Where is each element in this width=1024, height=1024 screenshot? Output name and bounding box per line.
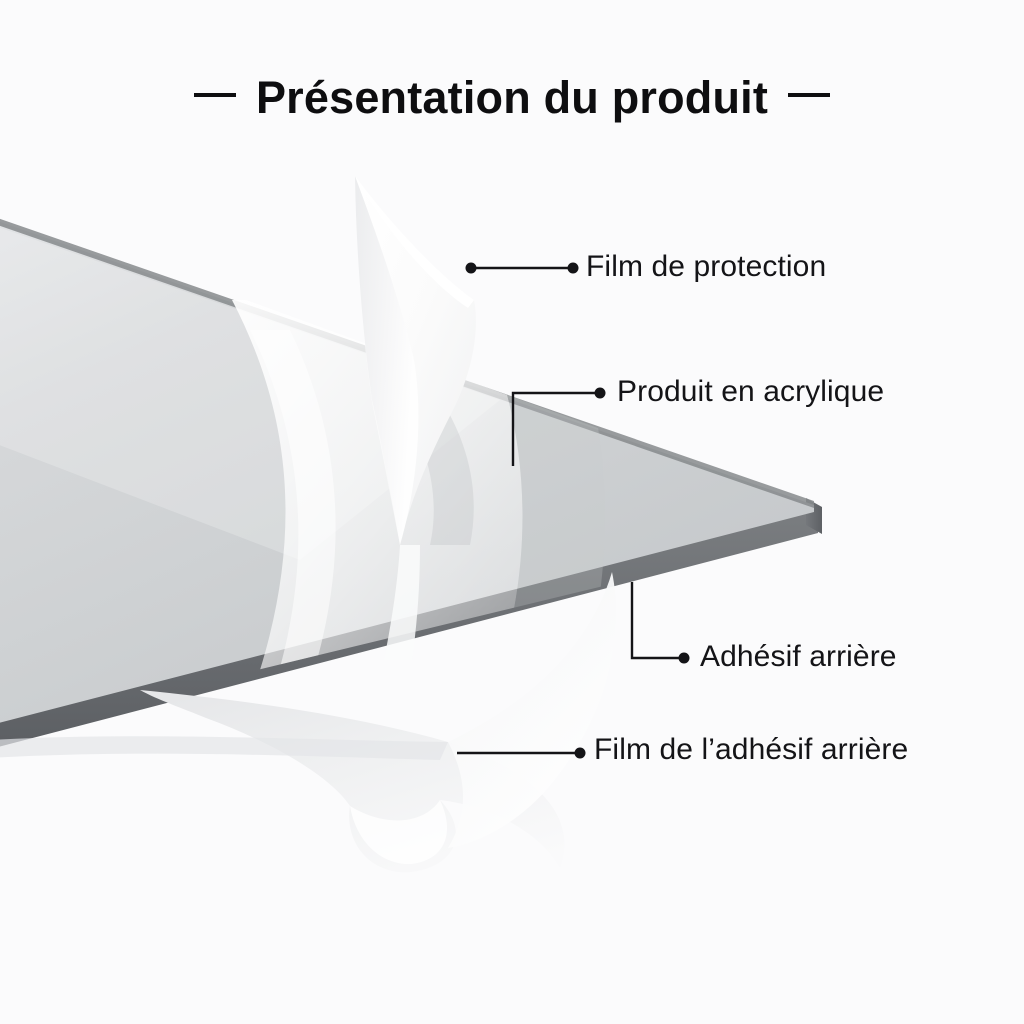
leader-dot-produit-acrylique — [595, 388, 606, 399]
callout-label-adhesif-arriere: Adhésif arrière — [700, 640, 897, 674]
callout-label-film-adhesif-arriere: Film de l’adhésif arrière — [594, 733, 908, 767]
leader-dot-film-adhesif-arriere — [575, 748, 586, 759]
leader-dot-adhesif-arriere — [679, 653, 690, 664]
callout-label-film-protection: Film de protection — [586, 250, 826, 284]
leader-adhesif-arriere — [632, 582, 684, 658]
leader-dot-film-protection-end — [568, 263, 579, 274]
callout-label-produit-acrylique: Produit en acrylique — [617, 375, 884, 409]
leader-dot-film-protection-start — [466, 263, 477, 274]
product-illustration — [0, 0, 1024, 1024]
product-overview-diagram: Présentation du produit — [0, 0, 1024, 1024]
